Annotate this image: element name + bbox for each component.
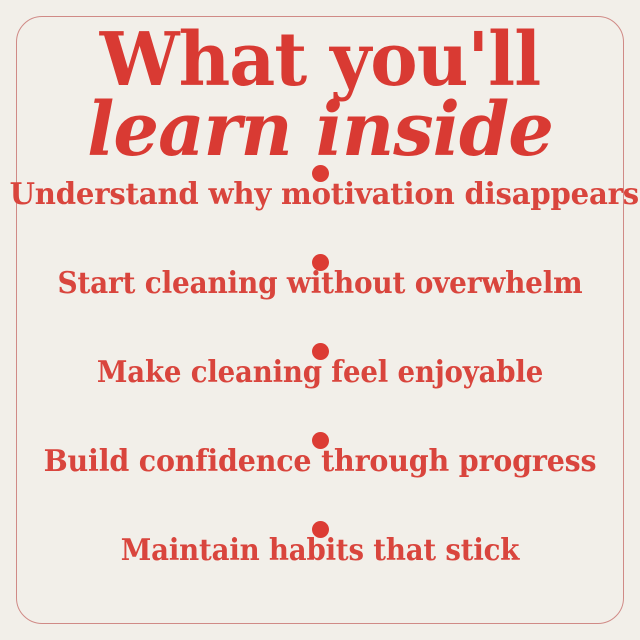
learning-points-list: Understand why motivation disappears Sta… [0, 163, 640, 608]
list-item: Make cleaning feel enjoyable [0, 341, 640, 430]
list-item-label: Make cleaning feel enjoyable [26, 351, 615, 395]
list-item-label: Start cleaning without overwhelm [22, 262, 617, 306]
list-item-label: Maintain habits that stick [26, 529, 615, 573]
poster-content: What you'll learn inside Understand why … [0, 0, 640, 640]
list-item: Understand why motivation disappears [0, 163, 640, 252]
title-line-2: learn inside [10, 96, 631, 164]
poster-canvas: What you'll learn inside Understand why … [0, 0, 640, 640]
list-item: Start cleaning without overwhelm [0, 252, 640, 341]
list-item: Maintain habits that stick [0, 519, 640, 608]
page-title: What you'll learn inside [0, 26, 640, 164]
title-line-1: What you'll [13, 26, 627, 94]
list-item-label: Understand why motivation disappears [10, 173, 631, 217]
list-item: Build confidence through progress [0, 430, 640, 519]
list-item-label: Build confidence through progress [16, 440, 624, 484]
